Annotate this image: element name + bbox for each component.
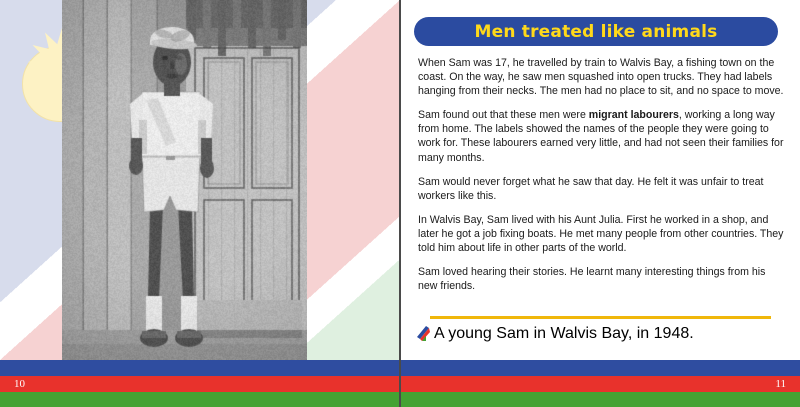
photo-caption: A young Sam in Walvis Bay, in 1948. bbox=[416, 325, 694, 343]
article-paragraph: Sam loved hearing their stories. He lear… bbox=[418, 265, 786, 293]
page-number-left: 10 bbox=[14, 376, 25, 392]
book-spread: Men treated like animals When Sam was 17… bbox=[0, 0, 800, 407]
caption-text: A young Sam in Walvis Bay, in 1948. bbox=[434, 325, 694, 343]
paragraph-text: Sam loved hearing their stories. He lear… bbox=[418, 266, 765, 292]
young-sam-photo bbox=[62, 0, 307, 360]
paragraph-text: In Walvis Bay, Sam lived with his Aunt J… bbox=[418, 214, 783, 254]
article-paragraph: Sam found out that these men were migran… bbox=[418, 108, 786, 164]
paragraph-text: Sam would never forget what he saw that … bbox=[418, 176, 763, 202]
page-gutter bbox=[399, 0, 401, 407]
article-paragraph: In Walvis Bay, Sam lived with his Aunt J… bbox=[418, 213, 786, 255]
photo-frame bbox=[62, 0, 307, 360]
article-paragraph: When Sam was 17, he travelled by train t… bbox=[418, 56, 786, 98]
paragraph-text: Sam found out that these men were bbox=[418, 109, 589, 121]
page-number-right: 11 bbox=[775, 376, 786, 392]
left-page bbox=[0, 0, 400, 360]
caption-divider-rule bbox=[430, 316, 771, 319]
emphasised-term: migrant labourers bbox=[589, 109, 679, 121]
article-body: When Sam was 17, he travelled by train t… bbox=[418, 56, 786, 303]
right-page: Men treated like animals When Sam was 17… bbox=[402, 0, 800, 360]
page-title: Men treated like animals bbox=[474, 22, 717, 42]
article-title-banner: Men treated like animals bbox=[414, 17, 778, 46]
paragraph-text: When Sam was 17, he travelled by train t… bbox=[418, 57, 784, 97]
namibia-flag-icon bbox=[416, 326, 431, 342]
article-paragraph: Sam would never forget what he saw that … bbox=[418, 175, 786, 203]
